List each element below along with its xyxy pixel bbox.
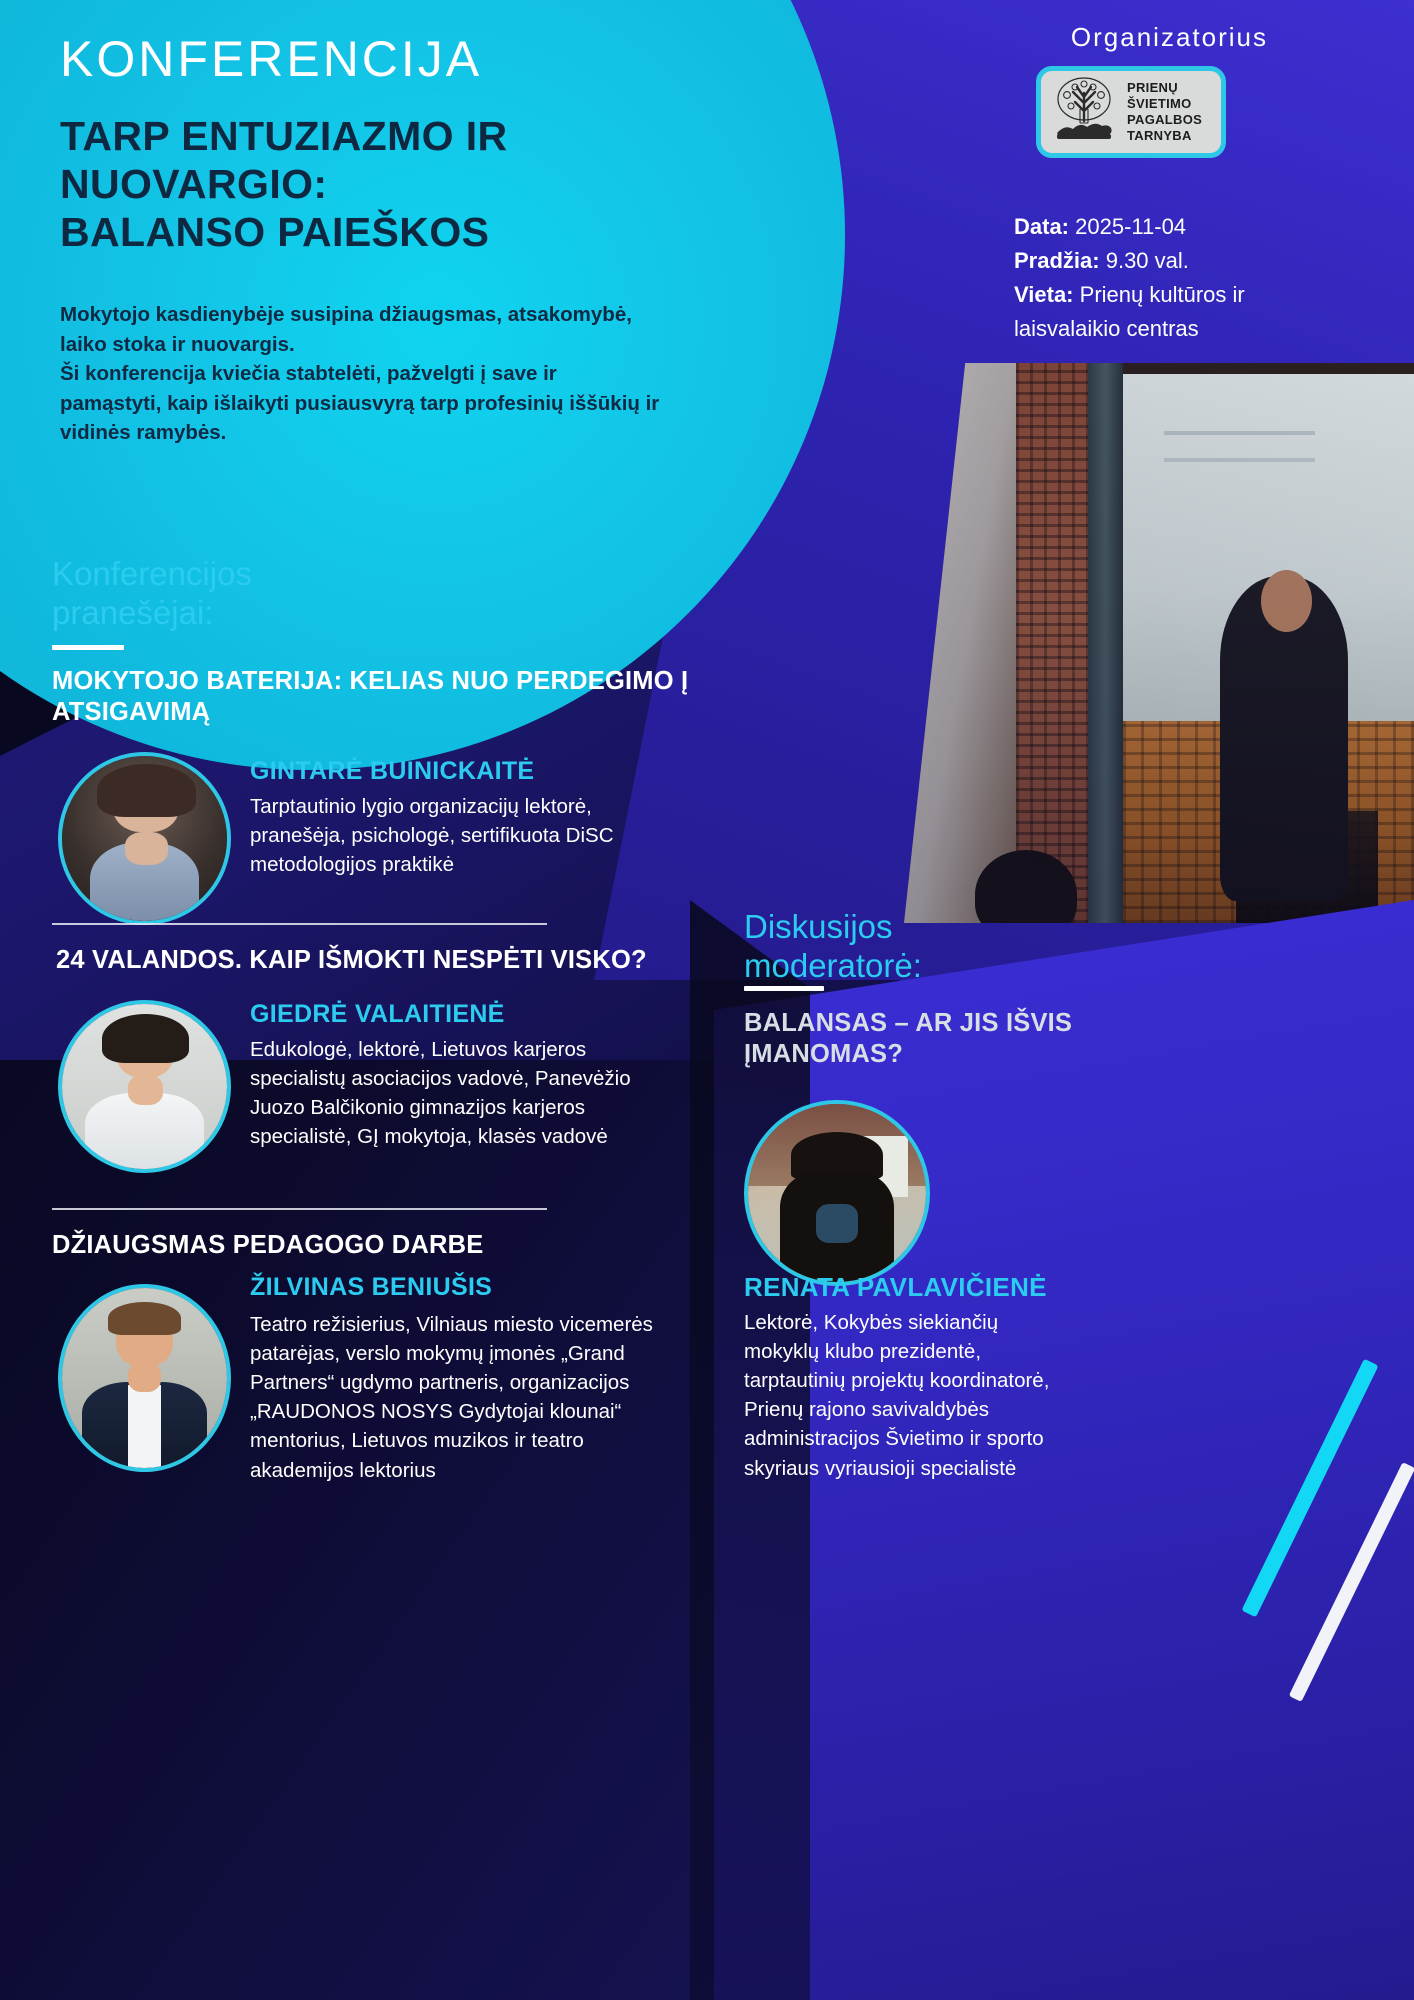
moderator-topic: BALANSAS – AR JIS IŠVIS ĮMANOMAS? bbox=[744, 1008, 1084, 1069]
photo-color-tint bbox=[904, 363, 1414, 923]
conference-poster: KONFERENCIJA TARP ENTUZIAZMO IR NUOVARGI… bbox=[0, 0, 1414, 2000]
speaker-bio-1: Tarptautinio lygio organizacijų lektorė,… bbox=[250, 792, 670, 879]
talk-title-3: DŽIAUGSMAS PEDAGOGO DARBE bbox=[52, 1230, 732, 1261]
logo-line-4: TARNYBA bbox=[1127, 128, 1202, 144]
moderator-name: RENATA PAVLAVIČIENĖ bbox=[744, 1272, 1047, 1303]
event-start-value: 9.30 val. bbox=[1106, 248, 1189, 273]
moderator-photo-renata bbox=[748, 1104, 926, 1282]
event-date-row: Data: 2025-11-04 bbox=[1014, 210, 1274, 244]
talk-title-1: MOKYTOJO BATERIJA: KELIAS NUO PERDEGIMO … bbox=[52, 666, 732, 727]
organizer-logo: PRIENŲ ŠVIETIMO PAGALBOS TARNYBA bbox=[1036, 66, 1226, 158]
speaker-photo-gintare bbox=[62, 756, 227, 921]
event-date-label: Data: bbox=[1014, 214, 1069, 239]
event-place-label: Vieta: bbox=[1014, 282, 1074, 307]
page-title: TARP ENTUZIAZMO IR NUOVARGIO: BALANSO PA… bbox=[60, 113, 700, 257]
speaker-avatar-1 bbox=[58, 752, 231, 925]
event-date-value: 2025-11-04 bbox=[1075, 214, 1186, 239]
intro-paragraph: Mokytojo kasdienybėje susipina džiaugsma… bbox=[60, 300, 660, 448]
speaker-name-1: GINTARĖ BUINICKAITĖ bbox=[250, 757, 534, 786]
event-place-row: Vieta: Prienų kultūros ir laisvalaikio c… bbox=[1014, 278, 1274, 346]
logo-line-2: ŠVIETIMO bbox=[1127, 96, 1202, 112]
speaker-bio-3: Teatro režisierius, Vilniaus miesto vice… bbox=[250, 1310, 680, 1485]
logo-line-3: PAGALBOS bbox=[1127, 112, 1202, 128]
speaker-bio-2: Edukologė, lektorė, Lietuvos karjeros sp… bbox=[250, 1035, 680, 1151]
speaker-name-2: GIEDRĖ VALAITIENĖ bbox=[250, 1000, 505, 1029]
speakers-heading: Konferencijos pranešėjai: bbox=[52, 555, 382, 633]
speaker-separator-2 bbox=[52, 1208, 547, 1210]
organizer-logo-text: PRIENŲ ŠVIETIMO PAGALBOS TARNYBA bbox=[1127, 80, 1202, 143]
speaker-separator-1 bbox=[52, 923, 547, 925]
conference-hall-photo bbox=[904, 363, 1414, 923]
speaker-avatar-3 bbox=[58, 1284, 231, 1472]
speaker-photo-giedre bbox=[62, 1004, 227, 1169]
speakers-heading-rule bbox=[52, 645, 124, 650]
organizer-label: Organizatorius bbox=[1071, 22, 1268, 53]
speaker-photo-zilvinas bbox=[62, 1288, 227, 1468]
tree-logo-icon bbox=[1049, 75, 1119, 149]
logo-line-1: PRIENŲ bbox=[1127, 80, 1202, 96]
event-details: Data: 2025-11-04 Pradžia: 9.30 val. Viet… bbox=[1014, 210, 1274, 346]
moderator-avatar bbox=[744, 1100, 930, 1286]
moderator-heading: Diskusijos moderatorė: bbox=[744, 908, 1044, 986]
event-start-label: Pradžia: bbox=[1014, 248, 1100, 273]
talk-title-2: 24 VALANDOS. KAIP IŠMOKTI NESPĖTI VISKO? bbox=[56, 945, 736, 976]
moderator-bio: Lektorė, Kokybės siekiančių mokyklų klub… bbox=[744, 1308, 1074, 1483]
speaker-name-3: ŽILVINAS BENIUŠIS bbox=[250, 1273, 492, 1302]
moderator-heading-rule bbox=[744, 986, 824, 991]
speaker-avatar-2 bbox=[58, 1000, 231, 1173]
event-start-row: Pradžia: 9.30 val. bbox=[1014, 244, 1274, 278]
poster-kicker: KONFERENCIJA bbox=[60, 30, 482, 88]
